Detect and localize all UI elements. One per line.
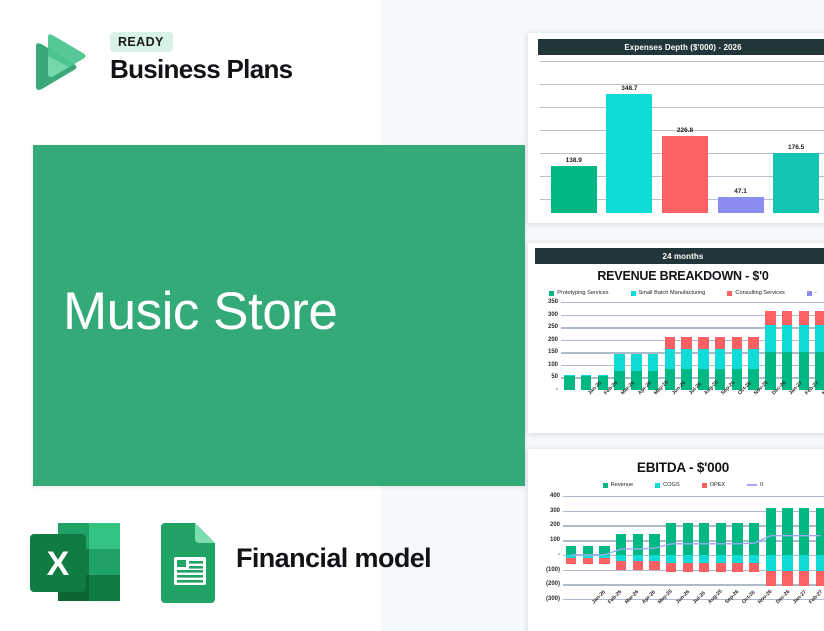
legend-label: 0 (760, 482, 763, 488)
revenue-bar-column (812, 302, 824, 390)
revenue-bar-column (779, 302, 796, 390)
revenue-bar-segment (815, 325, 824, 353)
revenue-chart-title: REVENUE BREAKDOWN - $'0 (535, 269, 824, 283)
legend-item: COGS (655, 482, 679, 488)
revenue-bar-column (561, 302, 578, 390)
ebitda-y-axis-label: (300) (546, 596, 560, 602)
legend-label: Revenue (611, 482, 633, 488)
legend-label: COGS (663, 482, 679, 488)
expenses-bar-value: 47.1 (718, 188, 764, 195)
chart-card-expenses-depth[interactable]: Expenses Depth ($'000) - 2026 138.9348.7… (528, 33, 824, 223)
revenue-bar-stack (782, 311, 792, 390)
legend-swatch (603, 483, 608, 488)
expenses-bar (551, 166, 597, 213)
legend-swatch (727, 291, 732, 296)
revenue-y-axis-label: 200 (548, 337, 558, 343)
revenue-y-axis-label: 100 (548, 362, 558, 368)
revenue-bar-column (611, 302, 628, 390)
revenue-bar-segment (715, 337, 725, 348)
revenue-bar-segment (748, 337, 758, 348)
expenses-bar-value: 226.8 (662, 127, 708, 134)
revenue-bar-segment (698, 337, 708, 348)
revenue-bar-column (595, 302, 612, 390)
ebitda-y-axis-label: 200 (550, 522, 560, 528)
revenue-bar-segment (698, 349, 708, 369)
ebitda-y-axis-label: - (558, 552, 560, 558)
revenue-bar-segment (648, 354, 658, 372)
microsoft-excel-icon: X (28, 521, 122, 603)
ebitda-x-axis-labels: Jan-26Feb-26Mar-26Apr-26May-26Jun-26Jul-… (591, 601, 824, 607)
revenue-bar-column (729, 302, 746, 390)
revenue-bar-stack (765, 311, 775, 390)
revenue-bar-column (678, 302, 695, 390)
expenses-bar-column: 47.1 (718, 61, 764, 213)
ebitda-plot-area: 400300200100-(100)(200)(300) Jan-26Feb-2… (563, 496, 824, 599)
ebitda-y-axis-label: (200) (546, 581, 560, 587)
expenses-bar-value: 176.5 (773, 144, 819, 151)
revenue-bar-stack (799, 311, 809, 390)
revenue-y-axis-label: 50 (551, 374, 558, 380)
legend-swatch (549, 291, 554, 296)
revenue-bar-column (662, 302, 679, 390)
expenses-plot-area: 138.9348.7226.847.1176.5 (536, 61, 824, 213)
google-sheets-icon (159, 521, 221, 603)
revenue-bar-column (762, 302, 779, 390)
brand-logo: READY Business Plans (26, 26, 326, 96)
expenses-bar (662, 136, 708, 213)
svg-text:X: X (47, 545, 70, 583)
revenue-bar-column (628, 302, 645, 390)
expenses-bars: 138.9348.7226.847.1176.5 (546, 61, 824, 213)
revenue-bar-segment (665, 349, 675, 369)
legend-item: Consulting Services (727, 290, 784, 296)
legend-label: Prototyping Services (557, 290, 608, 296)
expenses-bar (773, 153, 819, 213)
ebitda-y-axis-label: 400 (550, 493, 560, 499)
revenue-bar-column (578, 302, 595, 390)
revenue-bar-segment (748, 349, 758, 369)
brand-name: Business Plans (110, 56, 292, 83)
ebitda-y-axis-label: (100) (546, 567, 560, 573)
revenue-bar-segment (681, 349, 691, 369)
revenue-bar-segment (564, 376, 574, 390)
revenue-bar-column (745, 302, 762, 390)
legend-label: - (815, 290, 817, 296)
revenue-bars (561, 302, 824, 390)
page-title: Music Store (63, 285, 337, 338)
revenue-y-axis-label: - (556, 387, 558, 393)
slide-root: READY Business Plans Music Store X (0, 0, 824, 631)
revenue-bar-segment (732, 337, 742, 348)
play-triangle-logo-icon (26, 28, 92, 94)
revenue-legend: Prototyping ServicesSmall Batch Manufact… (535, 290, 824, 296)
legend-item: 0 (747, 482, 763, 488)
revenue-bar-column (796, 302, 813, 390)
footer-label: Financial model (236, 543, 431, 574)
expenses-bar-column: 226.8 (662, 61, 708, 213)
ebitda-y-axis-label: 100 (550, 537, 560, 543)
revenue-bar-segment (799, 311, 809, 325)
revenue-bar-segment (815, 311, 824, 325)
revenue-bar-stack (564, 375, 574, 390)
legend-swatch (631, 291, 636, 296)
revenue-bar-segment (765, 311, 775, 325)
legend-label: Small Batch Manufacturing (639, 290, 706, 296)
legend-swatch (807, 291, 812, 296)
revenue-bar-segment (614, 354, 624, 372)
legend-item: Revenue (603, 482, 633, 488)
ebitda-chart-title: EBITDA - $'000 (535, 460, 824, 475)
revenue-plot-area: 35030025020015010050- Jan-26Feb-26Mar-26… (561, 302, 824, 390)
revenue-bar-segment (631, 354, 641, 372)
ebitda-legend: RevenueCOGSOPEX0 (535, 482, 824, 488)
revenue-bar-stack (815, 311, 824, 390)
revenue-bar-segment (681, 337, 691, 348)
ebitda-y-axis-label: 300 (550, 508, 560, 514)
revenue-bar-segment (799, 325, 809, 353)
revenue-bar-column (695, 302, 712, 390)
ready-badge: READY (110, 32, 173, 52)
expenses-bar (606, 94, 652, 213)
revenue-bar-segment (765, 325, 775, 353)
revenue-bar-segment (782, 325, 792, 353)
revenue-bar-column (645, 302, 662, 390)
expenses-bar-column: 348.7 (606, 61, 652, 213)
revenue-y-axis-label: 300 (548, 312, 558, 318)
expenses-bar-column: 138.9 (551, 61, 597, 213)
legend-swatch (702, 483, 707, 488)
revenue-x-axis-labels: Jan-26Feb-26Mar-26Apr-26May-26Jun-26Jul-… (587, 392, 824, 398)
legend-label: OPEX (710, 482, 726, 488)
legend-item: Small Batch Manufacturing (631, 290, 706, 296)
revenue-bar-segment (732, 349, 742, 369)
legend-item: OPEX (702, 482, 726, 488)
revenue-bar-segment (782, 311, 792, 325)
legend-swatch (747, 484, 757, 486)
ebitda-zero-line (563, 496, 824, 599)
legend-item: Prototyping Services (549, 290, 608, 296)
revenue-bar-segment (715, 349, 725, 369)
revenue-chart-strip-title: 24 months (535, 248, 824, 264)
expenses-bar-value: 348.7 (606, 85, 652, 92)
brand-wordmark: READY Business Plans (110, 32, 292, 83)
legend-item: - (807, 290, 817, 296)
expenses-bar-value: 138.9 (551, 157, 597, 164)
chart-card-ebitda[interactable]: EBITDA - $'000 RevenueCOGSOPEX0 40030020… (528, 449, 824, 631)
expenses-bar (718, 197, 764, 213)
revenue-y-axis-label: 150 (548, 349, 558, 355)
revenue-bar-segment (665, 337, 675, 348)
legend-label: Consulting Services (735, 290, 784, 296)
expenses-chart-strip-title: Expenses Depth ($'000) - 2026 (538, 39, 824, 55)
footer-bar: X Financial model (28, 519, 448, 605)
legend-swatch (655, 483, 660, 488)
revenue-bar-column (712, 302, 729, 390)
title-panel: Music Store (33, 145, 525, 486)
expenses-bar-column: 176.5 (773, 61, 819, 213)
chart-card-revenue-breakdown[interactable]: 24 months REVENUE BREAKDOWN - $'0 Protot… (528, 243, 824, 433)
revenue-y-axis-label: 350 (548, 299, 558, 305)
revenue-y-axis-label: 250 (548, 324, 558, 330)
